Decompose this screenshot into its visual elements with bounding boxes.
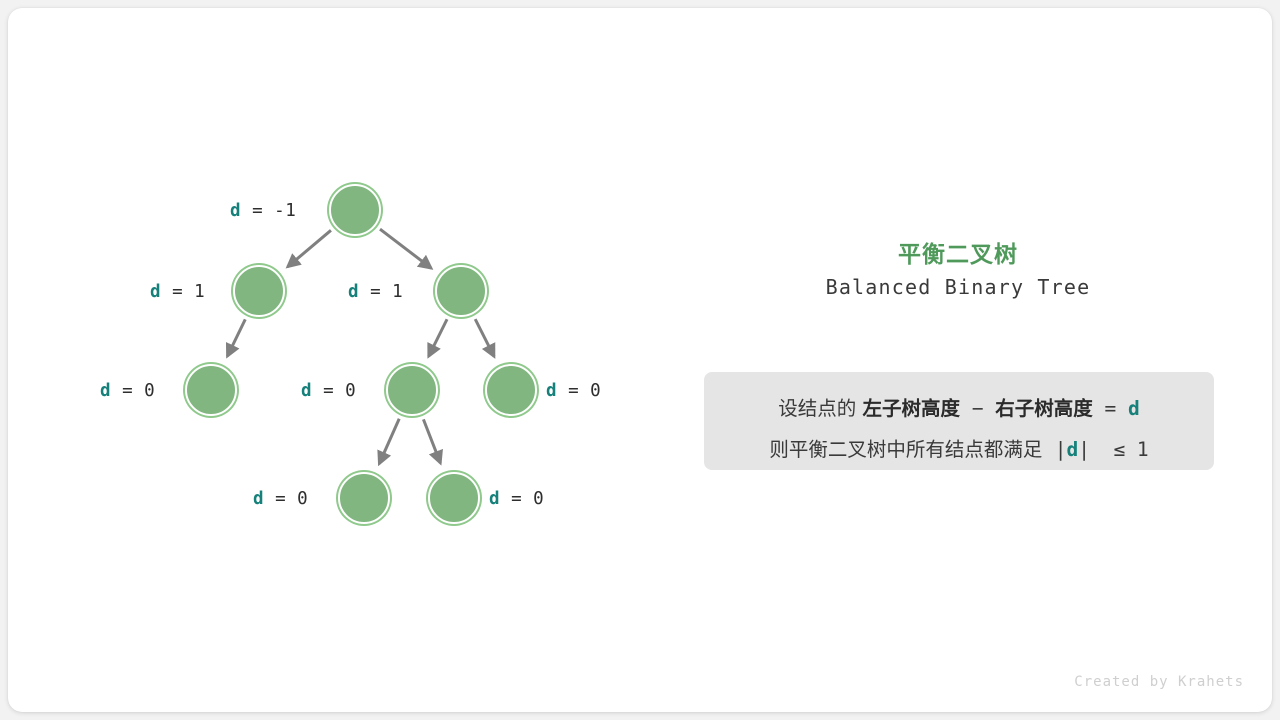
formula-minus-operator: − [960,397,995,420]
formula-variable-d: d [1066,438,1078,461]
node-balance-label: d = 0 [546,383,601,401]
balance-variable: d [150,282,161,302]
tree-node [338,472,390,524]
balance-value: = 0 [312,381,356,401]
tree-edge [429,319,447,356]
balance-value: = 1 [359,282,403,302]
tree-node [386,364,438,416]
footer-credit: Created by Krahets [1074,674,1244,690]
tree-edges-layer [8,8,668,712]
tree-node [329,184,381,236]
node-balance-label: d = 1 [150,284,205,302]
balance-value: = -1 [241,201,296,221]
formula-left-subtree-height: 左子树高度 [862,397,960,420]
diagram-card: d = -1d = 1d = 1d = 0d = 0d = 0d = 0d = … [8,8,1272,712]
formula-equals: = [1093,397,1128,420]
tree-edge [380,229,431,268]
tree-edge [423,419,440,463]
tree-node [185,364,237,416]
tree-edge [475,319,494,356]
tree-node [435,265,487,317]
balance-value: = 0 [557,381,601,401]
balance-variable: d [489,489,500,509]
tree-edge [379,419,399,464]
formula-box: 设结点的 左子树高度 − 右子树高度 = d 则平衡二叉树中所有结点都满足 |d… [704,372,1214,470]
formula-abs-bar-open: | [1055,438,1067,461]
node-balance-label: d = 1 [348,284,403,302]
formula-relation: ≤ 1 [1090,438,1149,461]
binary-tree-diagram: d = -1d = 1d = 1d = 0d = 0d = 0d = 0d = … [8,8,668,712]
info-panel: 平衡二叉树 Balanced Binary Tree 设结点的 左子树高度 − … [668,8,1272,712]
formula-line-1: 设结点的 左子树高度 − 右子树高度 = d [704,399,1214,419]
panel-title: 平衡二叉树 [668,235,1248,269]
formula-condition-prefix: 则平衡二叉树中所有结点都满足 [769,438,1054,461]
balance-variable: d [230,201,241,221]
tree-edge [227,319,245,356]
balance-variable: d [348,282,359,302]
formula-abs-bar-close: | [1078,438,1090,461]
balance-value: = 0 [500,489,544,509]
tree-node [485,364,537,416]
node-balance-label: d = -1 [230,203,296,221]
balance-variable: d [546,381,557,401]
node-balance-label: d = 0 [301,383,356,401]
formula-prefix: 设结点的 [778,397,862,420]
tree-edge [288,230,331,267]
tree-edges [227,229,494,464]
node-balance-label: d = 0 [253,491,308,509]
node-balance-label: d = 0 [489,491,544,509]
balance-variable: d [100,381,111,401]
formula-right-subtree-height: 右子树高度 [995,397,1093,420]
balance-value: = 0 [111,381,155,401]
balance-value: = 1 [161,282,205,302]
formula-line-2: 则平衡二叉树中所有结点都满足 |d| ≤ 1 [704,440,1214,460]
formula-variable-d: d [1128,397,1140,420]
panel-subtitle: Balanced Binary Tree [668,275,1248,299]
node-balance-label: d = 0 [100,383,155,401]
balance-variable: d [301,381,312,401]
tree-node [428,472,480,524]
tree-node [233,265,285,317]
balance-value: = 0 [264,489,308,509]
balance-variable: d [253,489,264,509]
